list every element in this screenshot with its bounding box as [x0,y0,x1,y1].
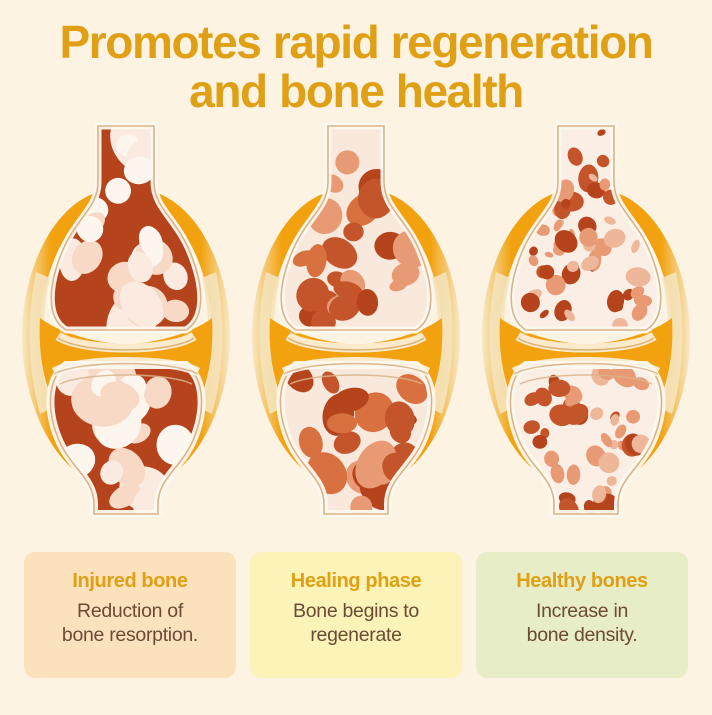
page-title-line-1: Promotes rapid regeneration [59,16,652,68]
caption-body-healthy-line-1: Increase in [536,600,628,622]
caption-body-injured-line-1: Reduction of [77,600,183,622]
bone-health-infographic: Promotes rapid regeneration and bone hea… [0,0,712,715]
healing-bone-illustration [248,122,464,517]
illustration-row [0,122,712,522]
page-title-line-2: and bone health [189,65,523,117]
caption-body-healthy-line-2: bone density. [527,624,638,646]
page-title: Promotes rapid regeneration and bone hea… [10,18,702,116]
title-block: Promotes rapid regeneration and bone hea… [0,0,712,116]
caption-title-healthy: Healthy bones [516,570,648,592]
caption-title-healing: Healing phase [291,570,421,592]
injured-bone-illustration [18,122,234,517]
caption-card-healing: Healing phase Bone begins to regenerate [250,552,462,678]
healthy-bone-illustration [478,122,694,517]
caption-body-healing-line-1: Bone begins to [293,600,419,622]
caption-body-injured: Reduction of bone resorption. [62,599,198,648]
caption-card-healthy: Healthy bones Increase in bone density. [476,552,688,678]
caption-body-healthy: Increase in bone density. [527,599,638,648]
caption-body-injured-line-2: bone resorption. [62,624,198,646]
caption-title-injured: Injured bone [72,570,187,592]
caption-card-injured: Injured bone Reduction of bone resorptio… [24,552,236,678]
caption-row: Injured bone Reduction of bone resorptio… [0,552,712,678]
caption-body-healing: Bone begins to regenerate [293,599,419,648]
caption-body-healing-line-2: regenerate [310,624,401,646]
